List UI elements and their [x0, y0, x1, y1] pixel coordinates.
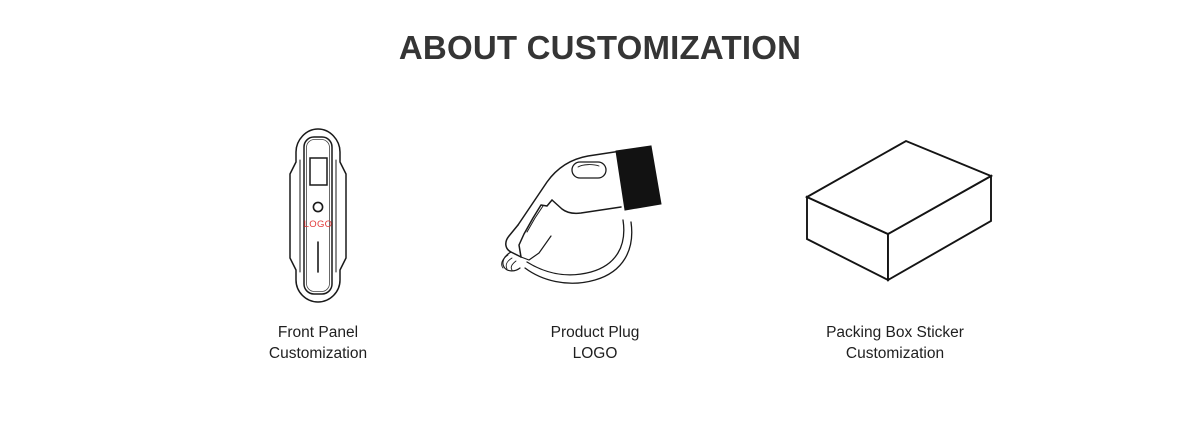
- plug-black-tip: [616, 146, 661, 210]
- customization-items: LOGO Front Panel Customization: [0, 110, 1200, 380]
- item-caption-line2: Customization: [755, 343, 1035, 364]
- item-caption-line1: Packing Box Sticker: [755, 322, 1035, 343]
- about-customization-section: ABOUT CUSTOMIZATION: [0, 0, 1200, 428]
- page-title: ABOUT CUSTOMIZATION: [0, 29, 1200, 67]
- item-caption-line2: Customization: [178, 343, 458, 364]
- item-caption: Front Panel Customization: [178, 322, 458, 364]
- item-caption-line1: Product Plug: [455, 322, 735, 343]
- list-item: LOGO Front Panel Customization: [178, 110, 458, 380]
- item-caption-line1: Front Panel: [178, 322, 458, 343]
- item-caption: Packing Box Sticker Customization: [755, 322, 1035, 364]
- ev-charging-plug-icon: [455, 110, 735, 310]
- item-caption: Product Plug LOGO: [455, 322, 735, 364]
- device-logo-label: LOGO: [304, 219, 333, 230]
- packing-box-icon: [755, 110, 1035, 310]
- device-screen: [310, 158, 327, 185]
- ev-charger-device-icon: LOGO: [178, 110, 458, 310]
- list-item: Product Plug LOGO: [455, 110, 735, 380]
- device-button-icon: [313, 202, 322, 211]
- item-caption-line2: LOGO: [455, 343, 735, 364]
- list-item: Packing Box Sticker Customization: [755, 110, 1035, 380]
